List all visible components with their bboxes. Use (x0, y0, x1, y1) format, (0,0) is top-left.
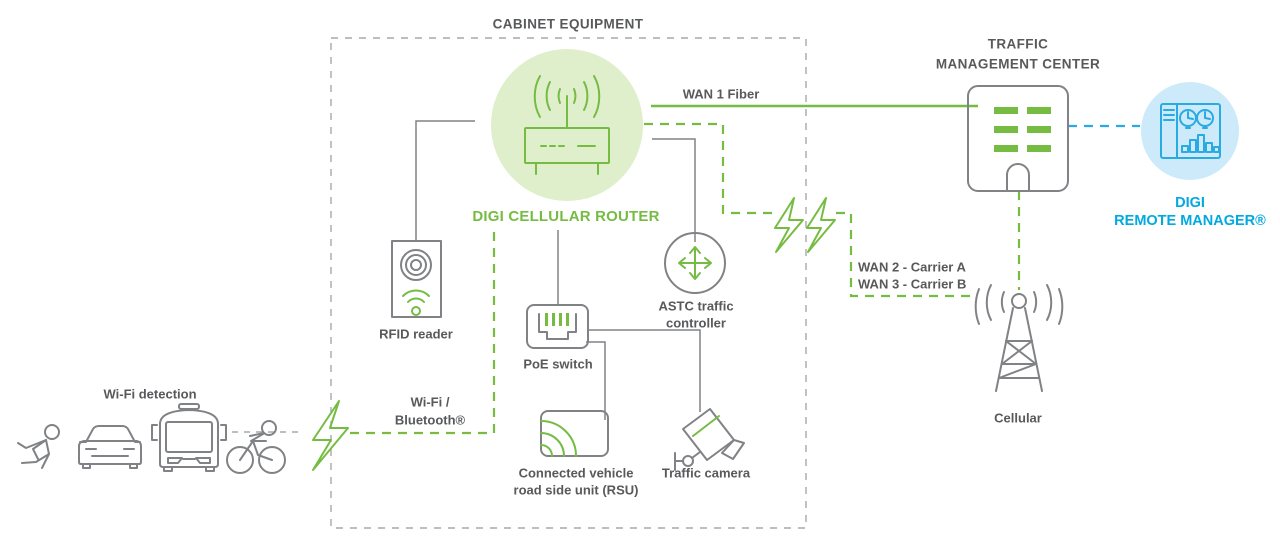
cellular-label: Cellular (994, 410, 1042, 425)
remote-manager-halo (1141, 82, 1239, 180)
traffic-camera-label: Traffic camera (662, 465, 751, 480)
node-rfid-reader[interactable]: RFID reader (379, 241, 453, 341)
tmc-title-line2: MANAGEMENT CENTER (936, 57, 1100, 72)
node-cellular-tower[interactable]: Cellular (976, 285, 1063, 425)
rsu-broadcast-icon (541, 411, 608, 456)
cyclist-icon (227, 421, 285, 473)
cctv-camera-icon (675, 409, 744, 470)
wan3-label: WAN 3 - Carrier B (858, 276, 966, 291)
diagram-canvas: CABINET EQUIPMENT WAN 1 Fiber WAN 2 - Ca… (0, 0, 1280, 549)
wifi-bt-label-line1: Wi-Fi / (411, 394, 450, 409)
wifi-detection-group: Wi-Fi detection (18, 386, 285, 473)
bus-icon (152, 404, 226, 471)
cabinet-title: CABINET EQUIPMENT (493, 17, 644, 32)
node-traffic-management-center[interactable]: TRAFFIC MANAGEMENT CENTER (936, 37, 1100, 191)
node-digi-remote-manager[interactable]: DIGI REMOTE MANAGER® (1114, 82, 1266, 229)
ethernet-port-icon (527, 305, 588, 348)
node-traffic-camera[interactable]: Traffic camera (662, 409, 751, 480)
node-astc-controller[interactable]: ASTC traffic controller (658, 233, 733, 330)
lightning-bolt-wan3-icon (807, 198, 835, 252)
link-poe-rsu (586, 342, 605, 420)
link-router-astc (652, 139, 695, 242)
wan1-label: WAN 1 Fiber (683, 86, 760, 101)
astc-label-line1: ASTC traffic (658, 298, 733, 313)
cell-tower-icon (976, 285, 1063, 391)
router-label: DIGI CELLULAR ROUTER (472, 208, 659, 225)
rfid-reader-icon (392, 241, 441, 317)
digi-cellular-router[interactable]: DIGI CELLULAR ROUTER (472, 49, 659, 225)
rsu-label-line2: road side unit (RSU) (514, 482, 639, 497)
node-rsu[interactable]: Connected vehicle road side unit (RSU) (514, 411, 639, 497)
car-icon (79, 426, 141, 468)
remote-manager-title-line1: DIGI (1175, 195, 1205, 211)
rsu-label-line1: Connected vehicle (519, 465, 634, 480)
poe-switch-label: PoE switch (523, 356, 592, 371)
remote-manager-title-line2: REMOTE MANAGER® (1114, 213, 1266, 229)
building-icon (968, 86, 1068, 191)
rfid-reader-label: RFID reader (379, 326, 453, 341)
astc-label-line2: controller (666, 315, 726, 330)
node-poe-switch[interactable]: PoE switch (523, 305, 592, 371)
tmc-title-line1: TRAFFIC (988, 37, 1049, 52)
link-router-rfid (416, 121, 475, 241)
wan2-label: WAN 2 - Carrier A (858, 259, 966, 274)
wifi-detection-label: Wi-Fi detection (103, 386, 196, 401)
pedestrian-icon (18, 425, 59, 468)
wifi-bt-label-line2: Bluetooth® (395, 412, 466, 427)
lightning-bolt-wan2-icon (775, 198, 803, 252)
link-wan23-router-segment (644, 124, 779, 213)
